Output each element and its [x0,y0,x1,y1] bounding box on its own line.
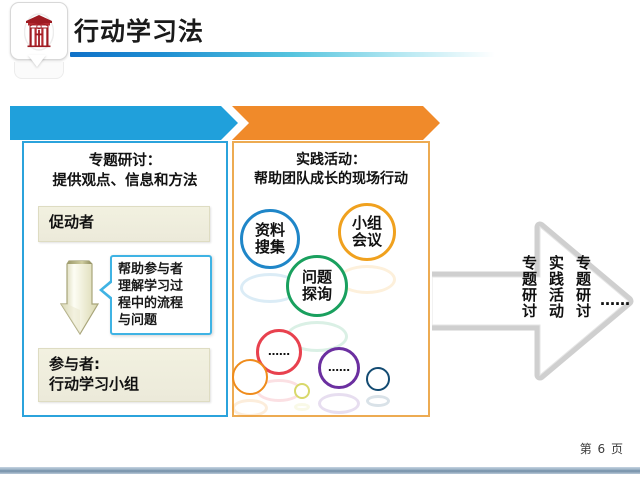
bubble-yellow-empty-reflection [294,403,310,411]
down-arrow-icon [58,255,100,339]
bubble-orange-empty-reflection [232,399,268,417]
title-underline-rule [70,52,495,57]
arrow-label-group: …… 专题研讨 实践活动 专题研讨 [455,255,630,365]
footer-bar [0,467,640,474]
callout-box: 帮助参与者 理解学习过 程中的流程 与问题 [110,255,212,335]
bubble-navy-empty-reflection [366,395,390,407]
logo-bubble-tail [28,55,46,67]
bubble-yellow-empty[interactable] [294,383,310,399]
left-panel: 专题研讨： 提供观点、信息和方法 促动者 [22,141,228,417]
participant-label-line-2: 行动学习小组 [49,375,209,395]
left-panel-heading: 专题研讨： 提供观点、信息和方法 [24,143,226,191]
participant-label-line-1: 参与者: [49,355,209,375]
page-number: 第 6 页 [580,440,624,457]
right-panel: 实践活动： 帮助团队成长的现场行动 资料搜集小组会议问题探询………… [232,141,430,417]
bubble-purple-ellipsis[interactable]: …… [318,347,360,389]
bubble-data-collection[interactable]: 资料搜集 [240,209,300,269]
arrow-label-3: 专题研讨 [573,255,594,319]
right-heading-line-2: 帮助团队成长的现场行动 [234,170,428,189]
bubble-orange-empty[interactable] [232,359,268,395]
page-title: 行动学习法 [74,12,204,48]
bubble-problem-inquiry[interactable]: 问题探询 [286,255,348,317]
bubble-group-meeting-label: 小组会议 [352,215,382,249]
participant-box: 参与者: 行动学习小组 [38,348,210,402]
chevron-blue [10,106,238,140]
left-heading-line-1: 专题研讨： [24,151,226,171]
right-heading-line-1: 实践活动： [234,151,428,170]
bubble-data-collection-label: 资料搜集 [255,222,285,256]
bubble-red-ellipsis-label: …… [268,346,290,358]
arrow-label-1: 专题研讨 [519,255,540,319]
callout-line-2: 理解学习过 [118,278,210,295]
left-heading-line-2: 提供观点、信息和方法 [24,171,226,191]
callout-line-1: 帮助参与者 [118,261,210,278]
facilitator-label: 促动者 [49,213,209,233]
bubble-purple-ellipsis-label: …… [328,362,350,374]
callout-tail-inner [103,281,114,299]
university-gate-emblem-icon [24,10,54,52]
callout-line-4: 与问题 [118,312,210,329]
bubble-problem-inquiry-label: 问题探询 [302,269,332,303]
chevron-orange [232,106,440,140]
right-panel-heading: 实践活动： 帮助团队成长的现场行动 [234,143,428,190]
logo-box [10,2,68,60]
bubble-purple-ellipsis-reflection [318,393,360,414]
callout-line-3: 程中的流程 [118,295,210,312]
bubble-navy-empty[interactable] [366,367,390,391]
facilitator-box: 促动者 [38,206,210,242]
arrow-ellipsis: …… [600,291,630,309]
bubble-group-meeting[interactable]: 小组会议 [338,203,396,261]
arrow-label-2: 实践活动 [546,255,567,319]
slide-canvas: 行动学习法 专题研讨： 提供观点、信息和方法 促动者 [0,0,640,480]
